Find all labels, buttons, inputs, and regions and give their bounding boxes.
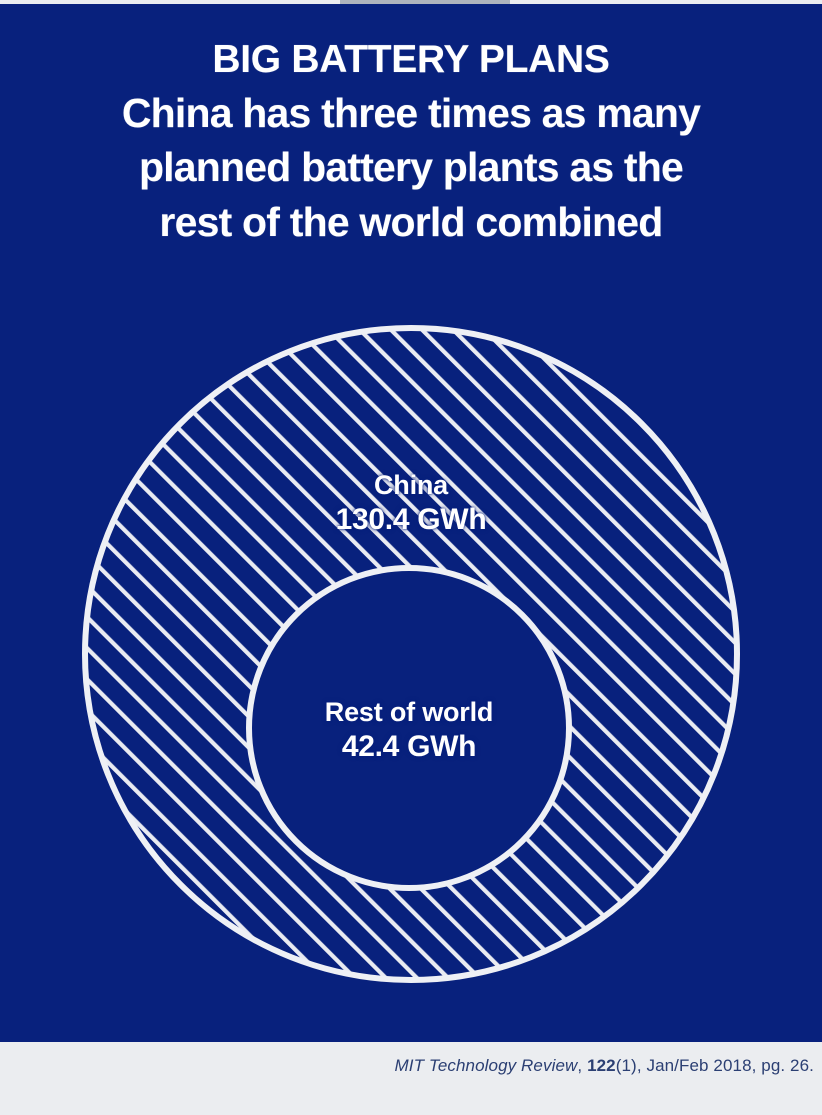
citation-page: pg. 26. — [761, 1056, 814, 1075]
citation-issue: (1) — [616, 1056, 637, 1075]
citation-journal: MIT Technology Review — [395, 1056, 578, 1075]
rest-of-world-circle — [249, 568, 569, 888]
source-citation: MIT Technology Review, 122(1), Jan/Feb 2… — [395, 1056, 814, 1076]
citation-date: Jan/Feb 2018 — [646, 1056, 751, 1075]
poster-panel: BIG BATTERY PLANS China has three times … — [0, 4, 822, 1042]
nested-circle-chart: China 130.4 GWh Rest of world 42.4 GWh — [0, 4, 822, 1042]
citation-sep-3: , — [752, 1056, 762, 1075]
citation-volume: 122 — [587, 1056, 616, 1075]
citation-sep-1: , — [577, 1056, 587, 1075]
footer-bar: MIT Technology Review, 122(1), Jan/Feb 2… — [0, 1042, 822, 1115]
chart-svg — [0, 4, 822, 1042]
infographic-root: BIG BATTERY PLANS China has three times … — [0, 0, 822, 1115]
